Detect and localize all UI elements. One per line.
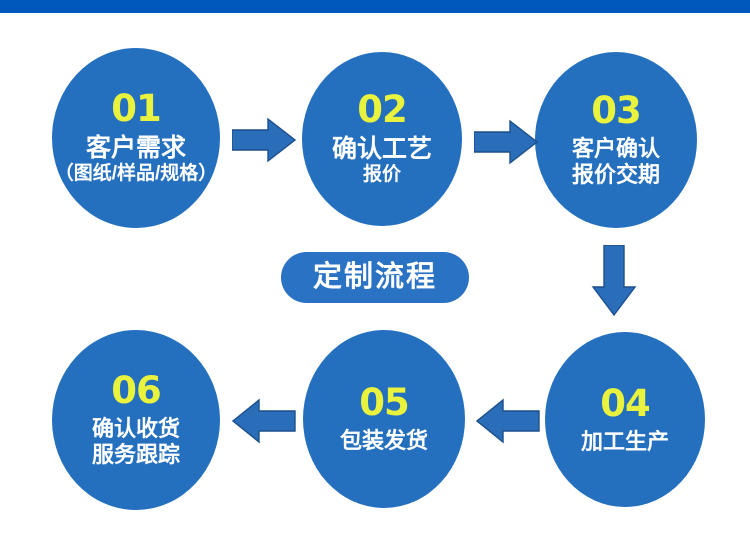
process-step-05: 05 包装发货: [303, 330, 465, 508]
step-label-line2-03: 报价交期: [572, 162, 660, 188]
step-label-line2-06: 服务跟踪: [92, 442, 180, 468]
step-label-group-03: 客户确认 报价交期: [572, 136, 660, 187]
arrow-step-02-to-03: [474, 119, 538, 165]
step-number-06: 06: [111, 372, 161, 409]
process-step-02: 02 确认工艺 报价: [302, 52, 462, 226]
center-title-badge: 定制流程: [281, 252, 469, 303]
step-label-line1-04: 加工生产: [581, 429, 669, 455]
step-label-line1-06: 确认收货: [92, 416, 180, 442]
step-number-02: 02: [357, 91, 407, 128]
arrow-step-04-to-05: [476, 398, 540, 444]
step-label-line2-01: （图纸/样品/规格）: [55, 163, 218, 185]
step-label-line1-01: 客户需求: [86, 134, 186, 163]
step-number-01: 01: [111, 90, 161, 127]
step-number-03: 03: [591, 92, 641, 129]
step-label-group-05: 包装发货: [340, 428, 428, 454]
process-step-04: 04 加工生产: [545, 332, 705, 507]
step-label-group-01: 客户需求 （图纸/样品/规格）: [55, 134, 218, 185]
step-label-line1-05: 包装发货: [340, 428, 428, 454]
arrow-step-03-to-04: [591, 245, 637, 317]
step-number-04: 04: [600, 385, 650, 422]
center-title-text: 定制流程: [313, 263, 437, 292]
customization-process-diagram: 01 客户需求 （图纸/样品/规格） 02 确认工艺 报价 03 客户确认 报价…: [0, 0, 750, 548]
top-accent-bar: [0, 0, 750, 13]
step-label-group-06: 确认收货 服务跟踪: [92, 416, 180, 467]
arrow-step-05-to-06: [232, 398, 296, 444]
step-label-group-04: 加工生产: [581, 429, 669, 455]
process-step-06: 06 确认收货 服务跟踪: [52, 330, 220, 510]
step-label-line2-02: 报价: [363, 164, 401, 186]
arrow-step-01-to-02: [232, 117, 296, 163]
process-step-01: 01 客户需求 （图纸/样品/规格）: [52, 48, 220, 228]
step-number-05: 05: [359, 384, 409, 421]
step-label-group-02: 确认工艺 报价: [332, 135, 432, 186]
step-label-line1-02: 确认工艺: [332, 135, 432, 164]
process-step-03: 03 客户确认 报价交期: [535, 52, 697, 228]
step-label-line1-03: 客户确认: [572, 136, 660, 162]
